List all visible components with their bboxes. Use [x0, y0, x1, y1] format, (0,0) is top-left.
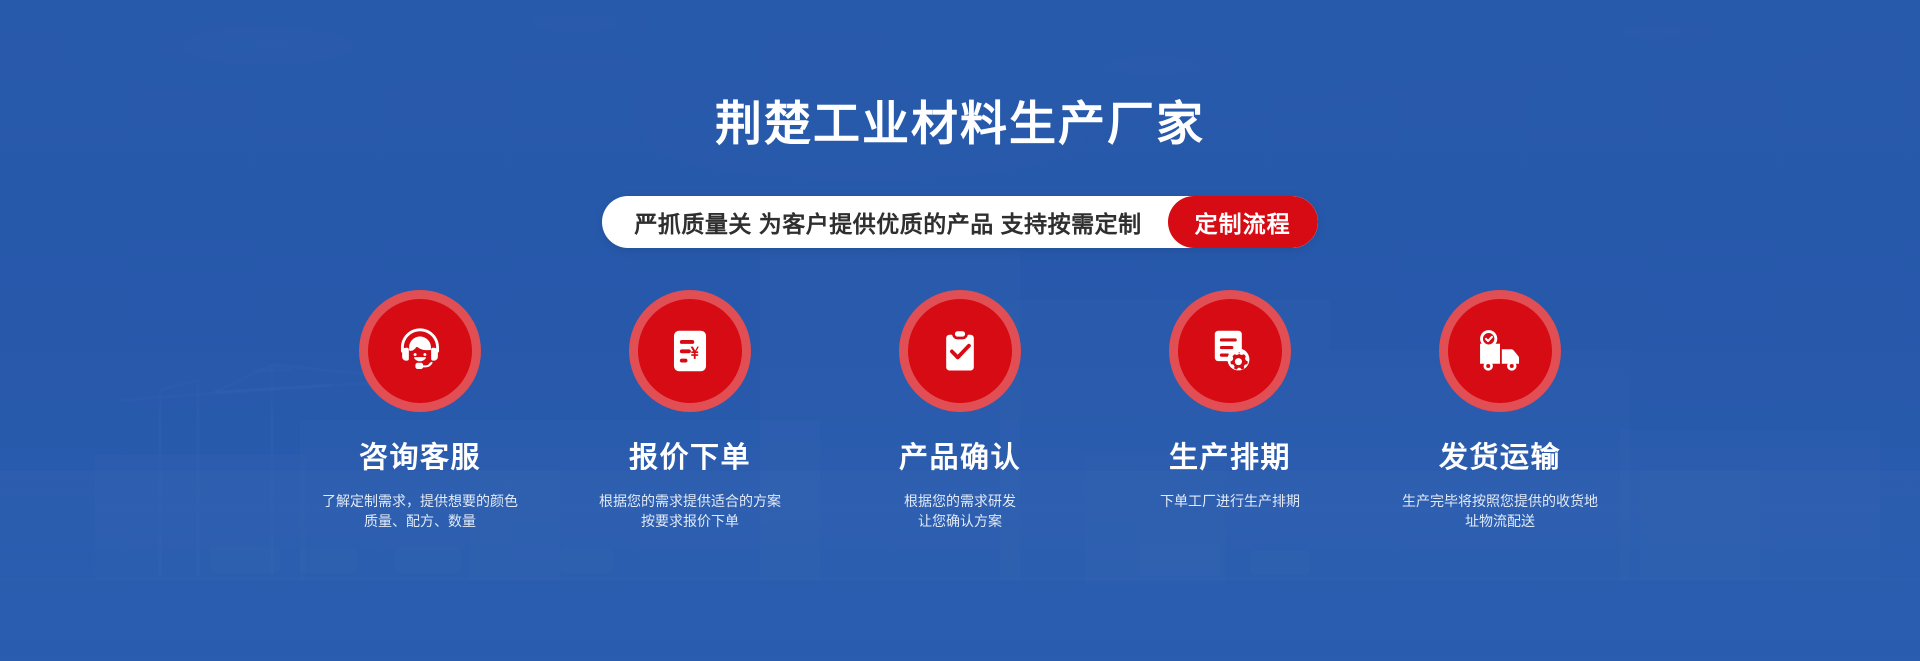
step-icon-circle[interactable]: [359, 290, 481, 412]
step-icon-circle[interactable]: [629, 290, 751, 412]
step-description-line-1: 了解定制需求，提供想要的颜色: [295, 491, 545, 511]
delivery-truck-check-icon: [1471, 322, 1529, 380]
process-step-quote[interactable]: 报价下单 根据您的需求提供适合的方案 按要求报价下单: [555, 290, 825, 531]
tagline-pill: 严抓质量关 为客户提供优质的产品 支持按需定制 定制流程: [602, 196, 1317, 248]
step-icon-circle[interactable]: [1439, 290, 1561, 412]
process-step-consult[interactable]: 咨询客服 了解定制需求，提供想要的颜色 质量、配方、数量: [285, 290, 555, 531]
step-description-line-2: 址物流配送: [1375, 511, 1625, 531]
clipboard-check-icon: [934, 325, 986, 377]
step-title: 生产排期: [1169, 444, 1291, 473]
step-description: 了解定制需求，提供想要的颜色 质量、配方、数量: [295, 491, 545, 531]
step-title: 报价下单: [629, 444, 751, 473]
process-step-shipping[interactable]: 发货运输 生产完毕将按照您提供的收货地 址物流配送: [1365, 290, 1635, 531]
tagline-text: 严抓质量关 为客户提供优质的产品 支持按需定制: [602, 196, 1167, 248]
custom-process-button[interactable]: 定制流程: [1168, 196, 1318, 248]
step-icon-circle[interactable]: [899, 290, 1021, 412]
process-steps: 咨询客服 了解定制需求，提供想要的颜色 质量、配方、数量: [0, 290, 1920, 531]
process-step-confirm[interactable]: 产品确认 根据您的需求研发 让您确认方案: [825, 290, 1095, 531]
headset-support-icon: [391, 322, 449, 380]
step-title: 产品确认: [899, 444, 1021, 473]
step-description-line-2: 让您确认方案: [835, 511, 1085, 531]
step-description: 根据您的需求提供适合的方案 按要求报价下单: [565, 491, 815, 531]
step-description: 下单工厂进行生产排期: [1105, 491, 1355, 511]
hero-banner: 荆楚工业材料生产厂家 严抓质量关 为客户提供优质的产品 支持按需定制 定制流程: [0, 0, 1920, 661]
document-gear-icon: [1203, 324, 1257, 378]
process-step-schedule[interactable]: 生产排期 下单工厂进行生产排期: [1095, 290, 1365, 511]
step-description-line-2: 按要求报价下单: [565, 511, 815, 531]
step-description-line-1: 下单工厂进行生产排期: [1105, 491, 1355, 511]
tagline-bar: 严抓质量关 为客户提供优质的产品 支持按需定制 定制流程: [0, 196, 1920, 248]
step-description-line-2: 质量、配方、数量: [295, 511, 545, 531]
step-description-line-1: 生产完毕将按照您提供的收货地: [1375, 491, 1625, 511]
step-title: 发货运输: [1439, 444, 1561, 473]
invoice-yuan-icon: [663, 324, 717, 378]
step-icon-circle[interactable]: [1169, 290, 1291, 412]
page-title: 荆楚工业材料生产厂家: [0, 100, 1920, 147]
step-description-line-1: 根据您的需求研发: [835, 491, 1085, 511]
banner-content: 荆楚工业材料生产厂家 严抓质量关 为客户提供优质的产品 支持按需定制 定制流程: [0, 0, 1920, 661]
step-description-line-1: 根据您的需求提供适合的方案: [565, 491, 815, 511]
step-description: 生产完毕将按照您提供的收货地 址物流配送: [1375, 491, 1625, 531]
step-title: 咨询客服: [359, 444, 481, 473]
step-description: 根据您的需求研发 让您确认方案: [835, 491, 1085, 531]
